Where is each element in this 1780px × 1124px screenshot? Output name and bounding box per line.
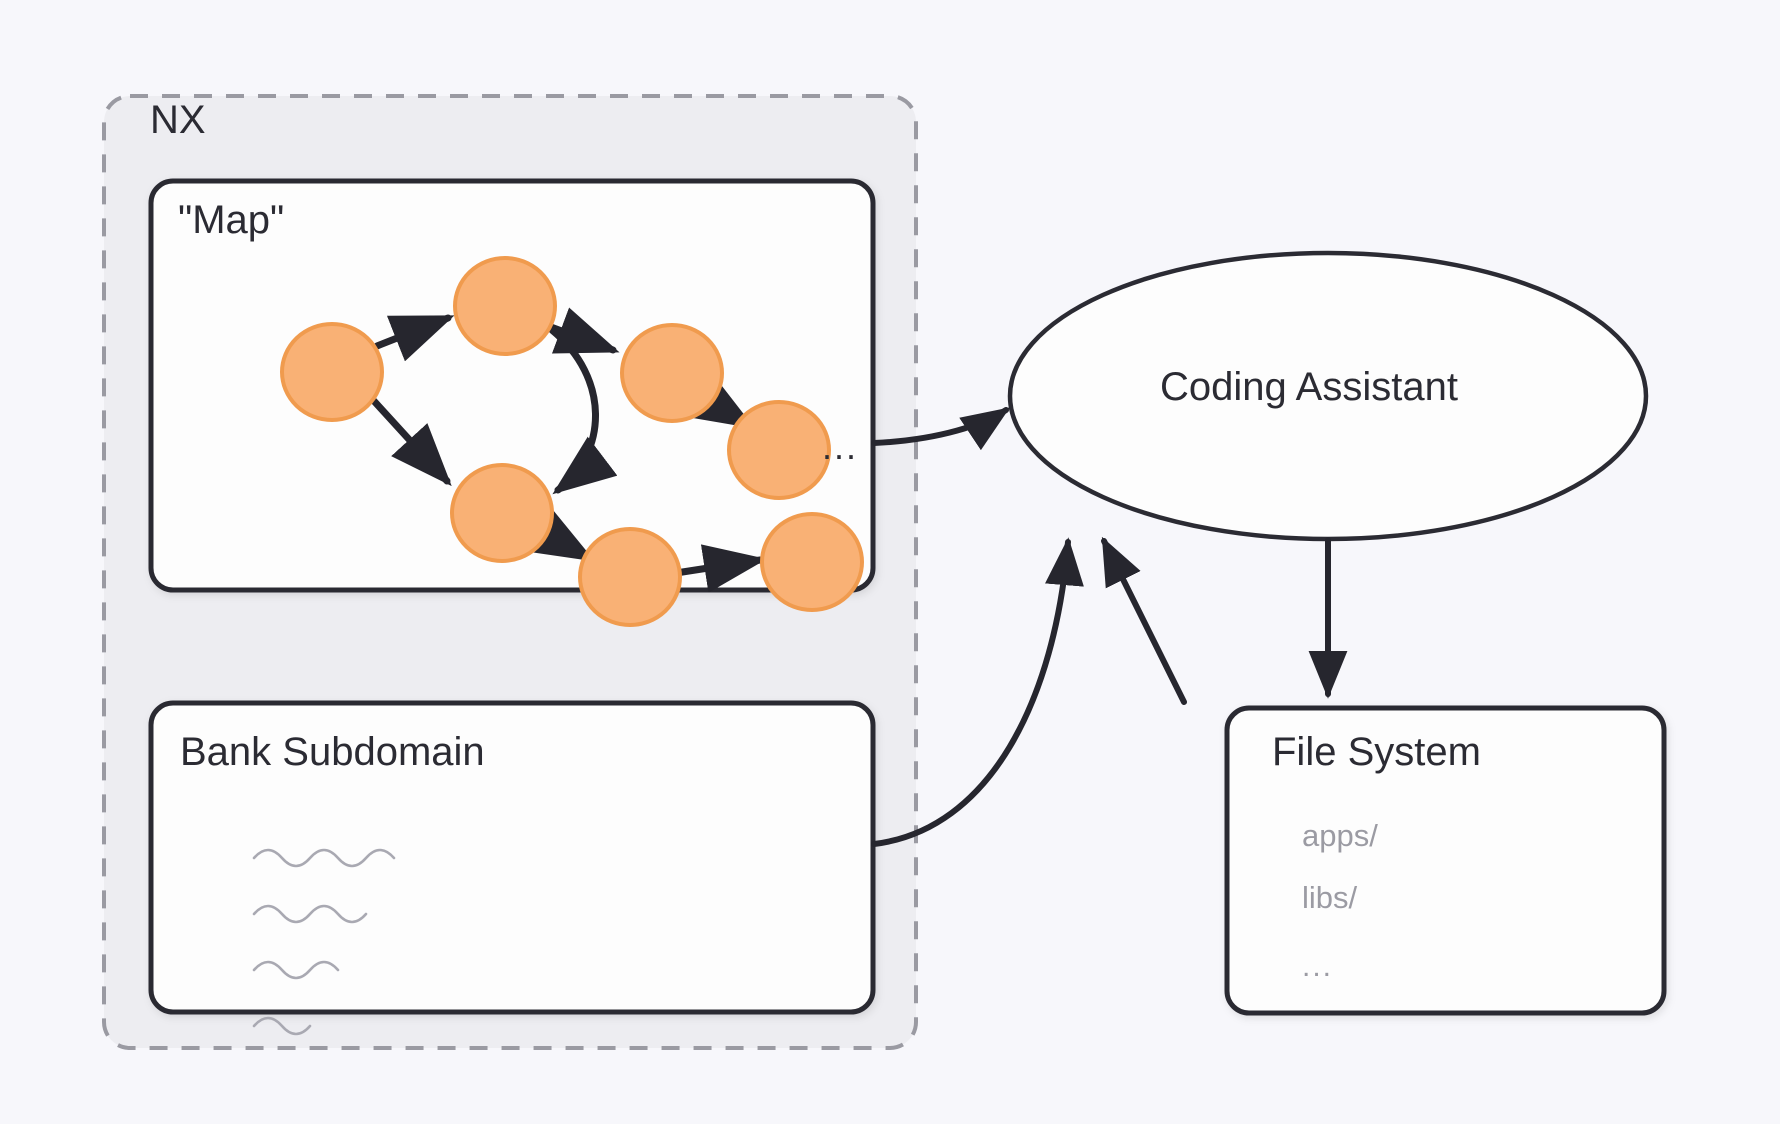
graph-node-7[interactable] (762, 514, 862, 610)
graph-node-3[interactable] (622, 325, 722, 421)
graph-node-6[interactable] (580, 529, 680, 625)
coding-assistant-ellipse[interactable] (1010, 253, 1646, 539)
diagram-canvas (0, 0, 1780, 1124)
file-system-box[interactable] (1227, 708, 1664, 1013)
graph-node-2[interactable] (455, 258, 555, 354)
graph-node-5[interactable] (452, 465, 552, 561)
graph-node-4[interactable] (729, 402, 829, 498)
graph-node-1[interactable] (282, 324, 382, 420)
arrow-filesystem-to-assistant (1104, 541, 1184, 702)
